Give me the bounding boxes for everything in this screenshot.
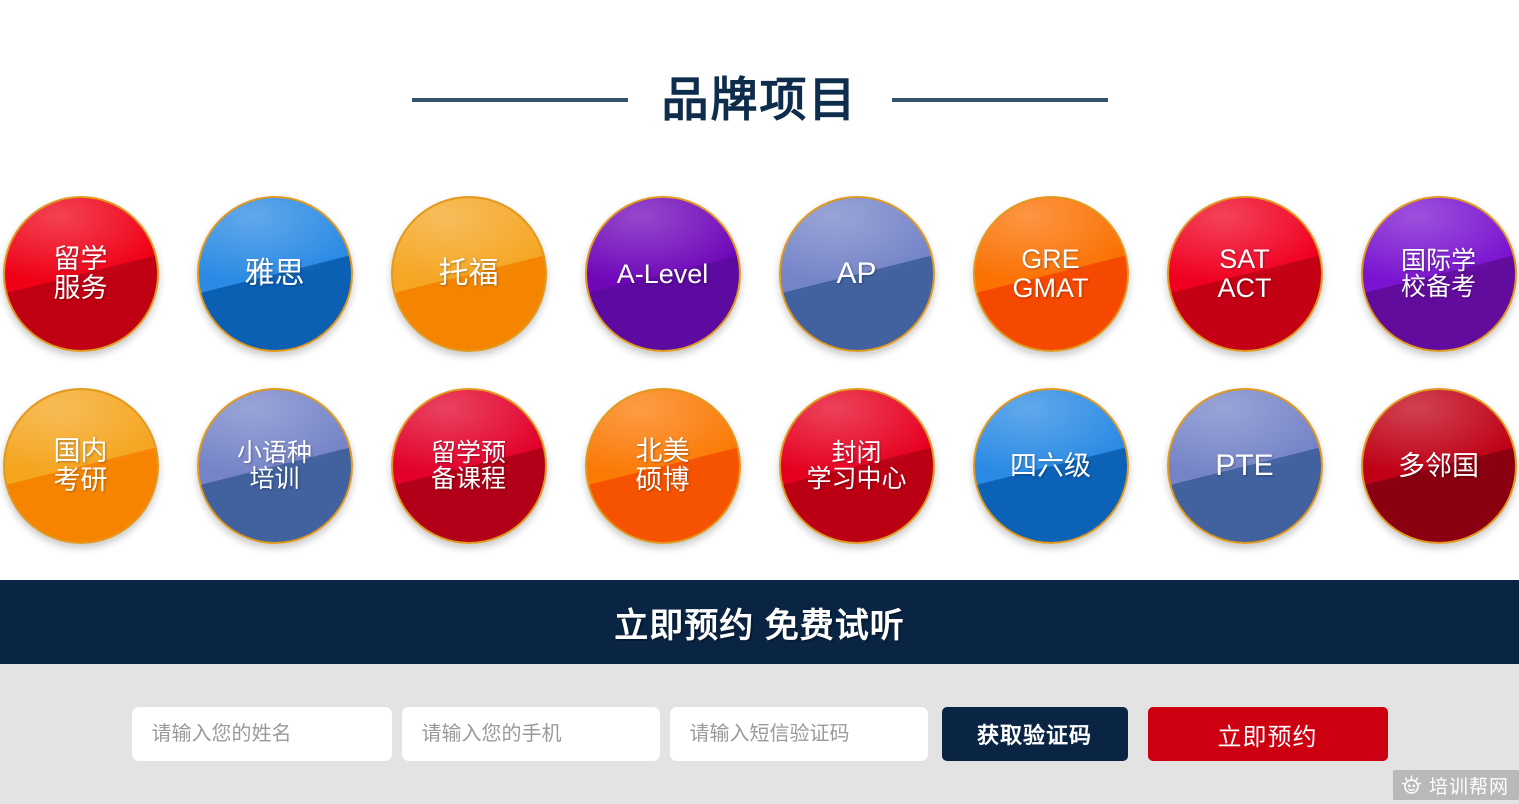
program-bubble-label: 小语种 培训: [231, 440, 318, 493]
program-bubble-label: PTE: [1209, 450, 1279, 482]
booking-form: 获取验证码 立即预约: [0, 664, 1519, 804]
program-bubble-label: 留学预 备课程: [425, 440, 512, 493]
program-bubble-minor-language-training[interactable]: 小语种 培训: [197, 388, 353, 544]
phone-input[interactable]: [402, 707, 660, 761]
program-bubble-label: 国际学 校备考: [1395, 248, 1482, 301]
program-bubble-label: 四六级: [1004, 452, 1097, 481]
watermark-label: 培训帮网: [1429, 772, 1509, 799]
title-rule-left: [412, 98, 628, 102]
get-verification-code-button[interactable]: 获取验证码: [942, 707, 1128, 761]
program-bubble-gre-gmat[interactable]: GRE GMAT: [973, 196, 1129, 352]
program-bubble-cet4-cet6[interactable]: 四六级: [973, 388, 1129, 544]
program-bubble-label: AP: [830, 258, 882, 290]
section-header: 品牌项目: [0, 62, 1519, 137]
program-row-2: 国内 考研小语种 培训留学预 备课程北美 硕博封闭 学习中心四六级PTE多邻国: [0, 370, 1519, 562]
program-bubble-study-abroad-prep-course[interactable]: 留学预 备课程: [391, 388, 547, 544]
page-title: 品牌项目: [662, 76, 858, 123]
program-bubble-label: 雅思: [239, 258, 311, 290]
submit-booking-button[interactable]: 立即预约: [1148, 707, 1388, 761]
program-bubble-liuxue-fuwu[interactable]: 留学 服务: [3, 196, 159, 352]
program-bubble-label: 多邻国: [1392, 452, 1485, 481]
program-bubble-pte[interactable]: PTE: [1167, 388, 1323, 544]
title-rule-right: [892, 98, 1108, 102]
program-bubble-label: 国内 考研: [48, 437, 114, 494]
program-bubble-a-level[interactable]: A-Level: [585, 196, 741, 352]
program-bubble-toefl[interactable]: 托福: [391, 196, 547, 352]
program-bubble-label: 留学 服务: [48, 245, 114, 302]
program-bubble-label: SAT ACT: [1212, 245, 1278, 302]
name-input[interactable]: [132, 707, 392, 761]
program-bubble-ap[interactable]: AP: [779, 196, 935, 352]
program-bubble-label: A-Level: [611, 260, 715, 289]
booking-banner-title: 立即预约 免费试听: [614, 598, 904, 647]
program-bubble-sat-act[interactable]: SAT ACT: [1167, 196, 1323, 352]
sms-code-input[interactable]: [670, 707, 928, 761]
program-bubble-label: 北美 硕博: [630, 437, 696, 494]
program-bubble-duolingo[interactable]: 多邻国: [1361, 388, 1517, 544]
program-bubble-label: 封闭 学习中心: [800, 440, 912, 493]
program-row-1: 留学 服务雅思托福A-LevelAPGRE GMATSAT ACT国际学 校备考: [0, 178, 1519, 370]
program-bubble-label: GRE GMAT: [1007, 245, 1095, 302]
sun-face-icon: [1401, 775, 1422, 796]
program-bubble-guonei-kaoyan[interactable]: 国内 考研: [3, 388, 159, 544]
program-bubble-label: 托福: [433, 258, 505, 290]
program-bubble-ielts[interactable]: 雅思: [197, 196, 353, 352]
program-bubble-closed-study-center[interactable]: 封闭 学习中心: [779, 388, 935, 544]
program-bubble-north-america-master-phd[interactable]: 北美 硕博: [585, 388, 741, 544]
brand-programs-page: 品牌项目 留学 服务雅思托福A-LevelAPGRE GMATSAT ACT国际…: [0, 0, 1519, 804]
watermark-badge: 培训帮网: [1393, 770, 1519, 800]
program-bubble-international-school-prep[interactable]: 国际学 校备考: [1361, 196, 1517, 352]
program-grid: 留学 服务雅思托福A-LevelAPGRE GMATSAT ACT国际学 校备考…: [0, 178, 1519, 562]
booking-banner: 立即预约 免费试听: [0, 580, 1519, 664]
